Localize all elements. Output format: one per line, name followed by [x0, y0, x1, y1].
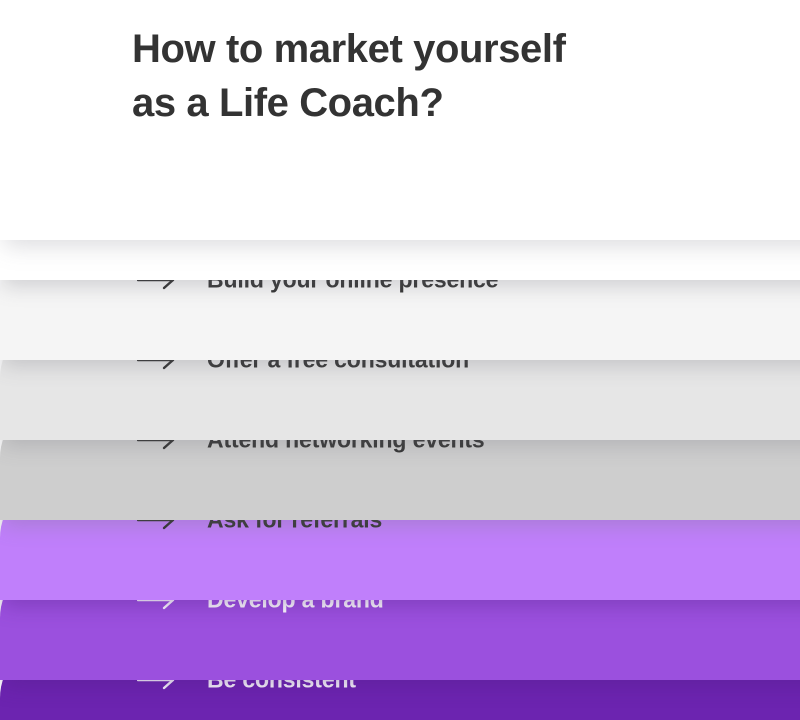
page-title-line-2: as a Life Coach? [132, 76, 732, 130]
page-title: How to market yourself as a Life Coach? [132, 22, 732, 131]
title-card: How to market yourself as a Life Coach? [0, 0, 800, 240]
infographic-root: How to market yourself as a Life Coach? … [0, 0, 800, 720]
page-title-line-1: How to market yourself [132, 22, 732, 76]
